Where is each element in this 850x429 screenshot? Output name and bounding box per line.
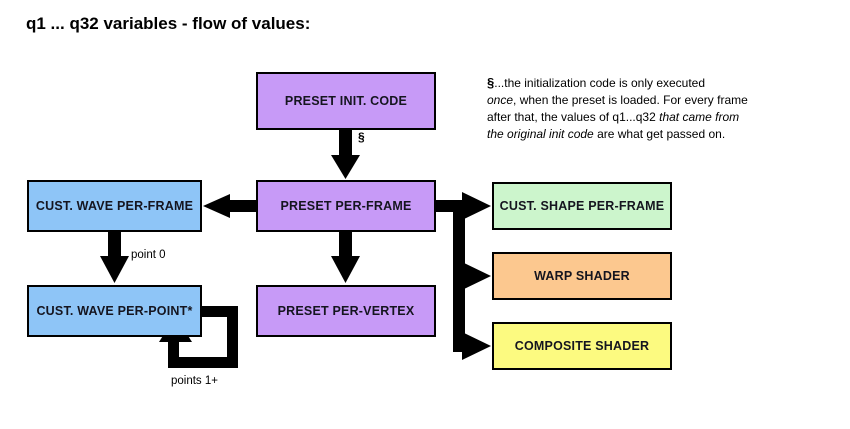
footnote-line1: ...the initialization code is only execu… — [494, 76, 705, 90]
node-label: CUST. SHAPE PER-FRAME — [500, 199, 665, 213]
edge-label-points-1-plus: points 1+ — [171, 375, 218, 387]
page-title: q1 ... q32 variables - flow of values: — [26, 14, 310, 34]
node-warp-shader[interactable]: WARP SHADER — [492, 252, 672, 300]
footnote-line3: after that, the values of q1...q32 — [487, 110, 659, 124]
arrow-perframe-to-right-branches — [436, 192, 491, 360]
node-preset-per-frame[interactable]: PRESET PER-FRAME — [256, 180, 436, 232]
arrow-perframe-to-custwaveperframe — [203, 194, 258, 218]
node-composite-shader[interactable]: COMPOSITE SHADER — [492, 322, 672, 370]
node-label: PRESET PER-FRAME — [281, 199, 412, 213]
footnote-text: §...the initialization code is only exec… — [487, 74, 817, 143]
node-cust-wave-per-frame[interactable]: CUST. WAVE PER-FRAME — [27, 180, 202, 232]
node-preset-init-code[interactable]: PRESET INIT. CODE — [256, 72, 436, 130]
node-label: PRESET INIT. CODE — [285, 94, 407, 108]
footnote-line2: , when the preset is loaded. For every f… — [513, 93, 748, 107]
arrow-perframe-to-pervertex — [331, 232, 360, 283]
node-label: CUST. WAVE PER-FRAME — [36, 199, 193, 213]
footnote-line4-emphasis: the original init code — [487, 127, 594, 141]
node-label: WARP SHADER — [534, 269, 630, 283]
diagram-canvas: q1 ... q32 variables - flow of values: — [0, 0, 850, 429]
node-cust-wave-per-point[interactable]: CUST. WAVE PER-POINT* — [27, 285, 202, 337]
node-label: CUST. WAVE PER-POINT* — [36, 304, 192, 318]
arrow-init-to-perframe — [331, 130, 360, 179]
node-label: PRESET PER-VERTEX — [278, 304, 415, 318]
footnote-line2-emphasis: once — [487, 93, 513, 107]
edge-label-point-0: point 0 — [131, 249, 166, 261]
node-cust-shape-per-frame[interactable]: CUST. SHAPE PER-FRAME — [492, 182, 672, 230]
section-marker-symbol: § — [358, 130, 365, 144]
footnote-line3-emphasis: that came from — [659, 110, 739, 124]
node-label: COMPOSITE SHADER — [515, 339, 649, 353]
footnote-line4: are what get passed on. — [594, 127, 725, 141]
node-preset-per-vertex[interactable]: PRESET PER-VERTEX — [256, 285, 436, 337]
arrow-custwaveperframe-to-custwaveperpoint — [100, 232, 129, 283]
